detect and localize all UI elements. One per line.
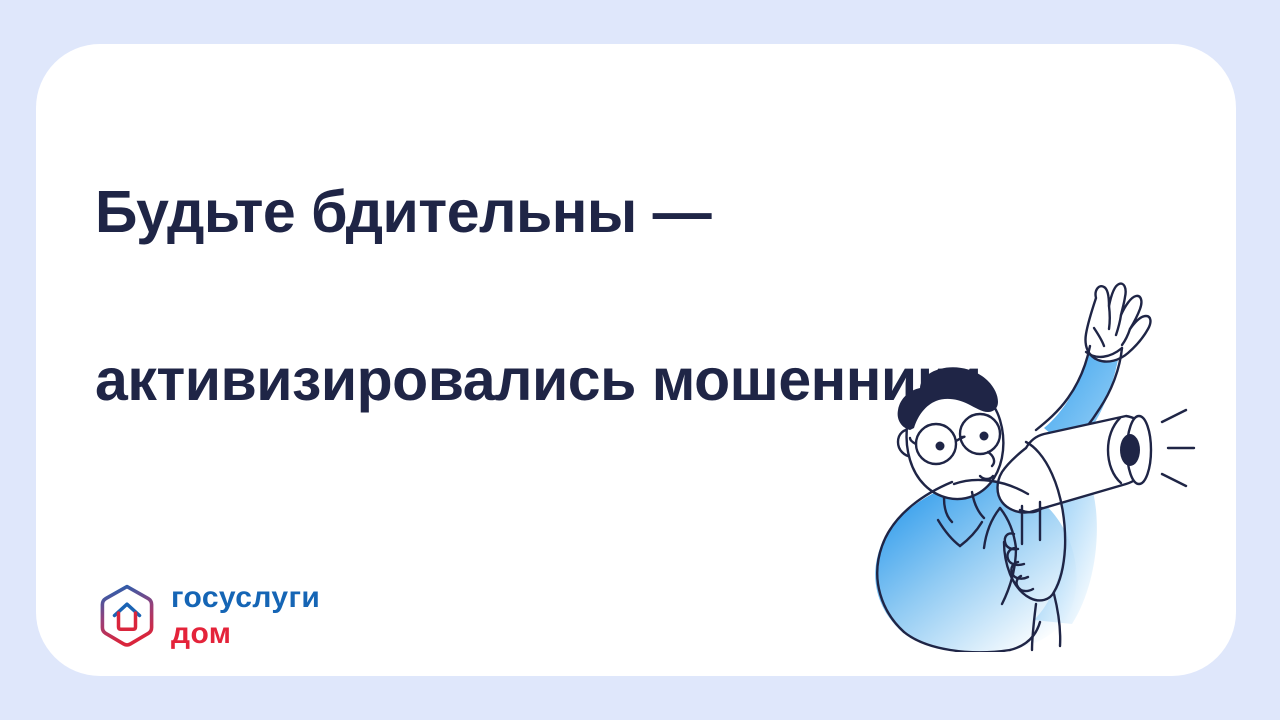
person-with-megaphone-illustration: [858, 252, 1198, 652]
content-card: Будьте бдительны — активизировались моше…: [36, 44, 1236, 676]
brand-logo[interactable]: госуслуги дом: [96, 583, 320, 649]
headline-line-1: Будьте бдительны —: [95, 170, 1095, 254]
logo-text-gosuslugi: госуслуги: [171, 583, 320, 613]
house-hexagon-icon: [96, 583, 158, 649]
logo-text-dom: дом: [171, 619, 320, 649]
logo-wordmark: госуслуги дом: [171, 583, 320, 649]
announcement-banner: Будьте бдительны — активизировались моше…: [0, 0, 1280, 720]
